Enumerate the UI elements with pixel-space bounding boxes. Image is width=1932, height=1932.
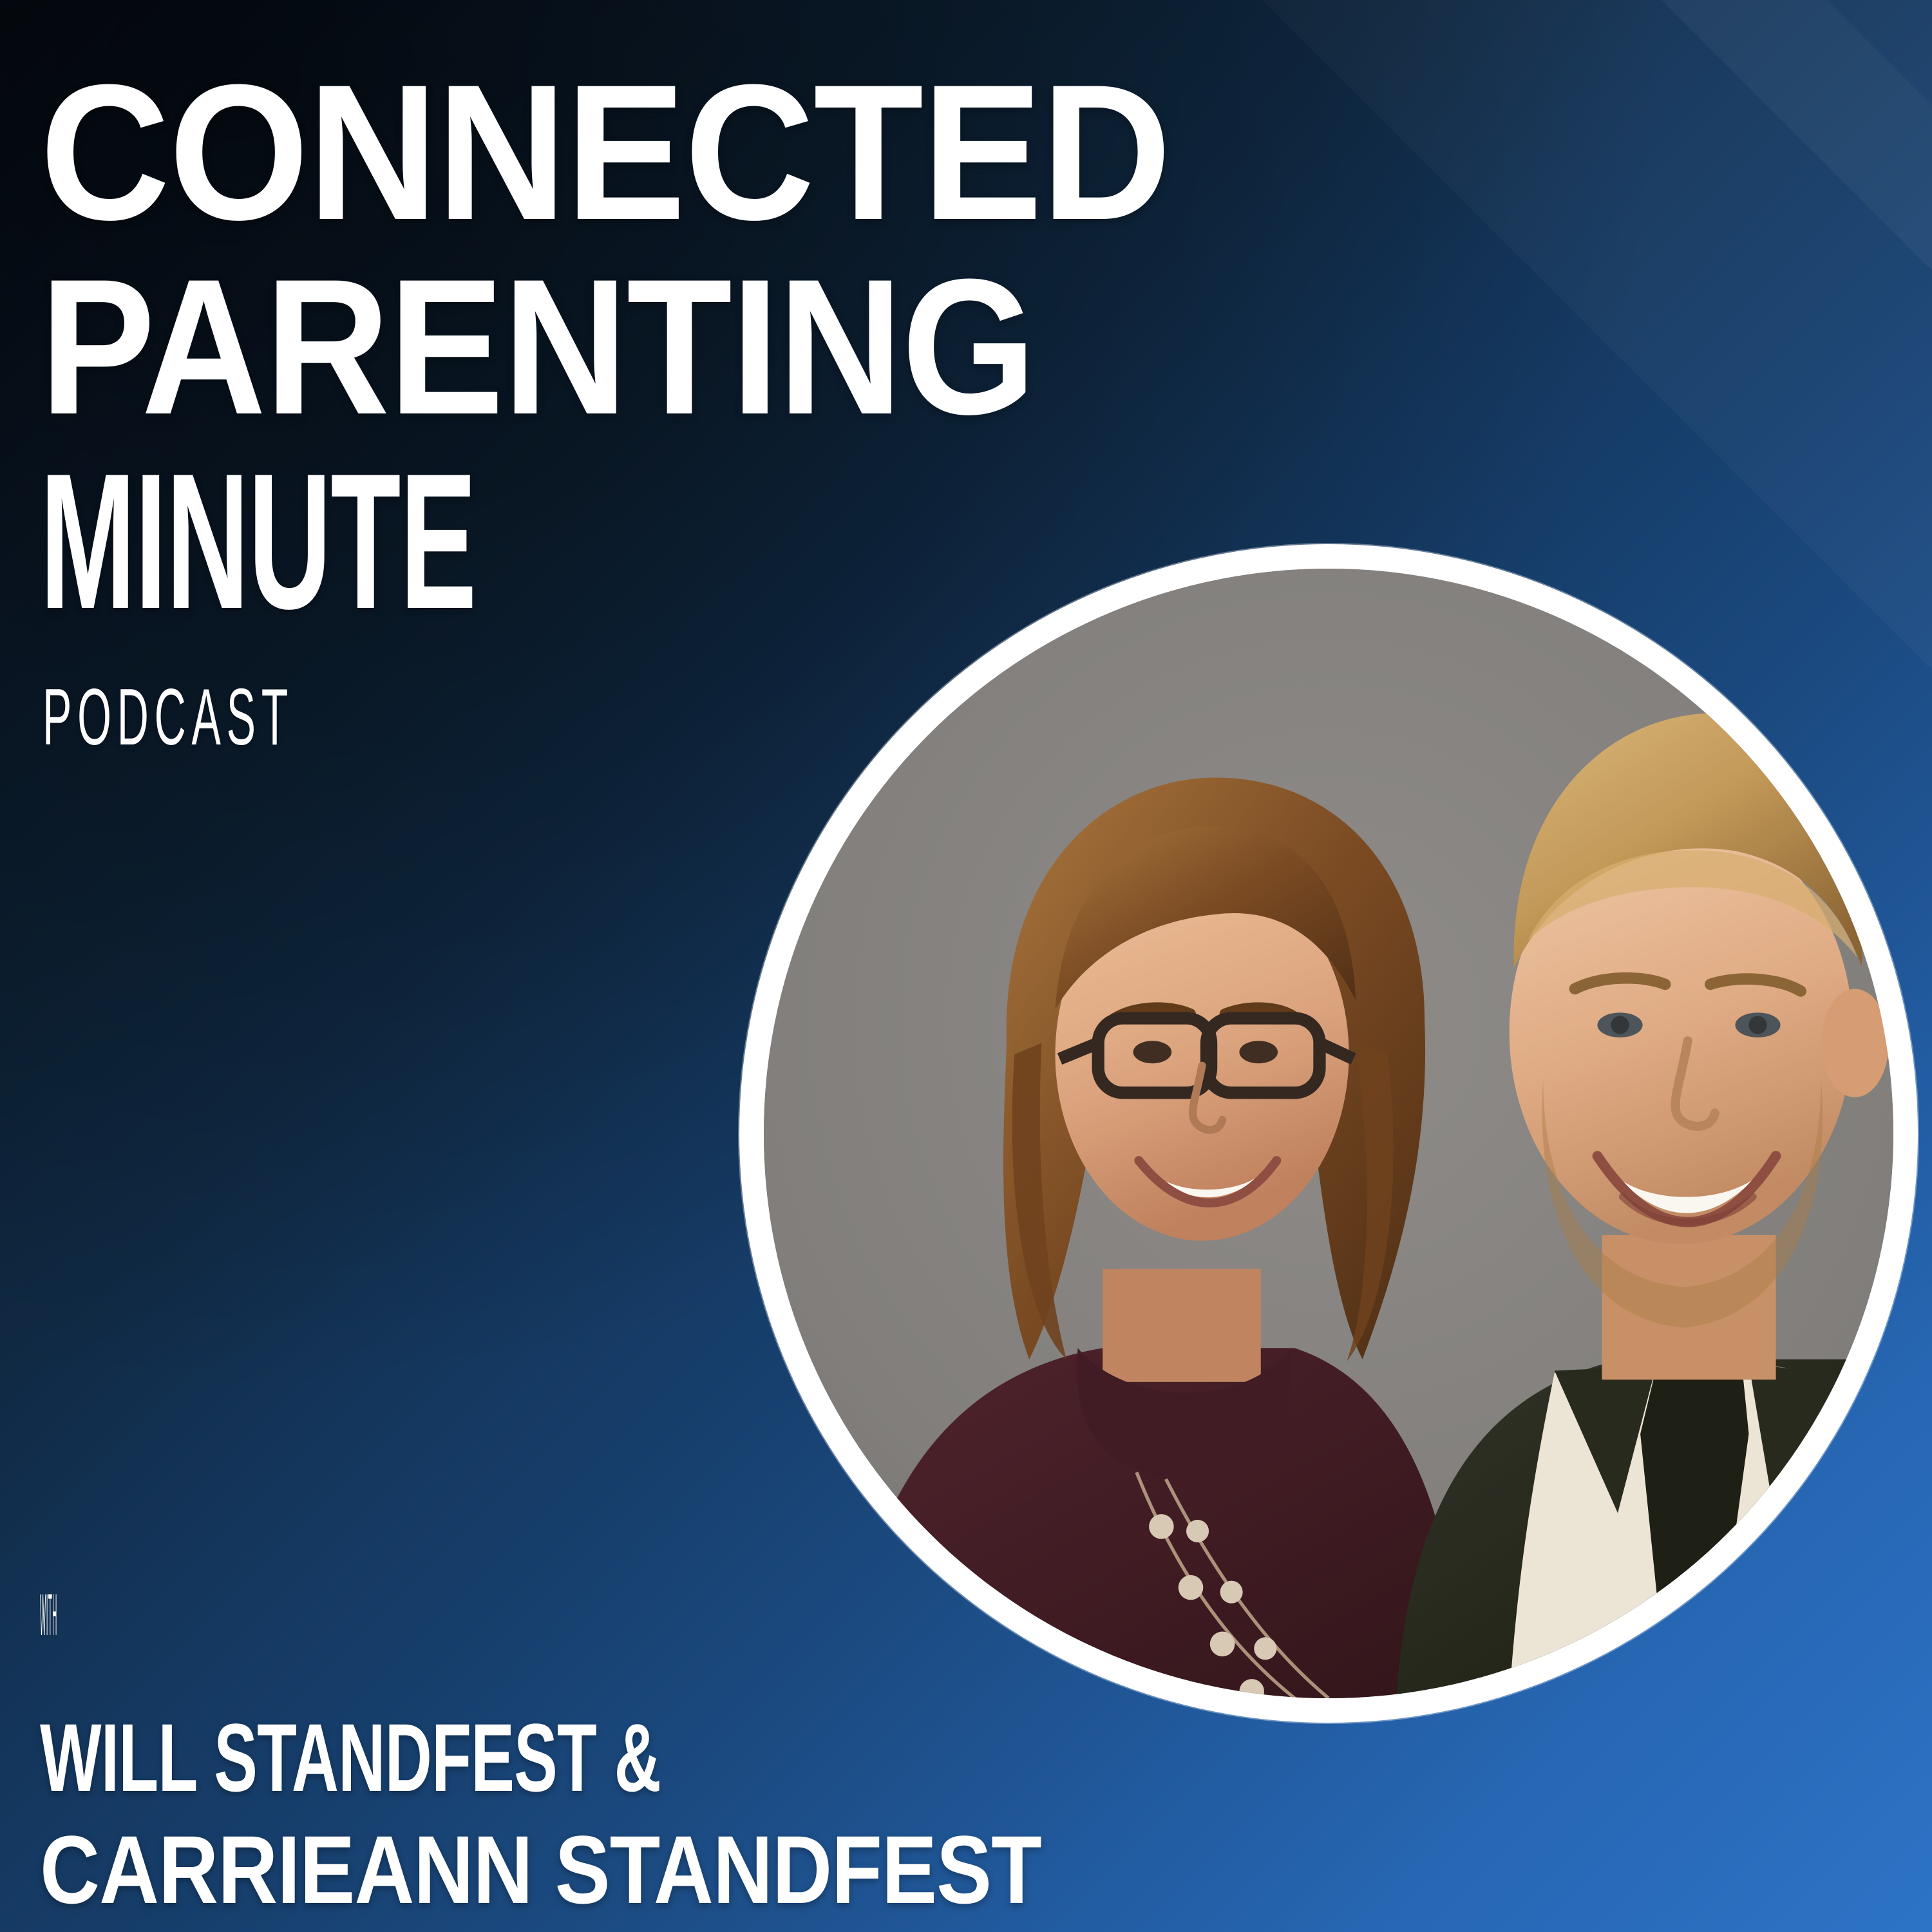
podcast-cover-art: CONNECTED PARENTING MINUTE PODCAST [0,0,1932,1932]
title-line-3: MINUTE [40,448,806,634]
host-name-line-2: CARRIEANN STANDFEST [40,1814,1035,1926]
host-photo-illustration [764,569,1893,1698]
title-line-2: PARENTING [40,254,1193,439]
host-credit: WITH WILL STANDFEST & CARRIEANN STANDFES… [40,1586,1199,1926]
host-portrait-circle [739,544,1918,1723]
host-portrait-photo [764,569,1893,1698]
podcast-subtitle: PODCAST [43,677,294,757]
podcast-title: CONNECTED PARENTING MINUTE [40,59,1328,634]
title-line-1: CONNECTED [40,59,1241,245]
host-name-line-1: WILL STANDFEST & [40,1701,822,1814]
credit-with-label: WITH [40,1586,164,1645]
